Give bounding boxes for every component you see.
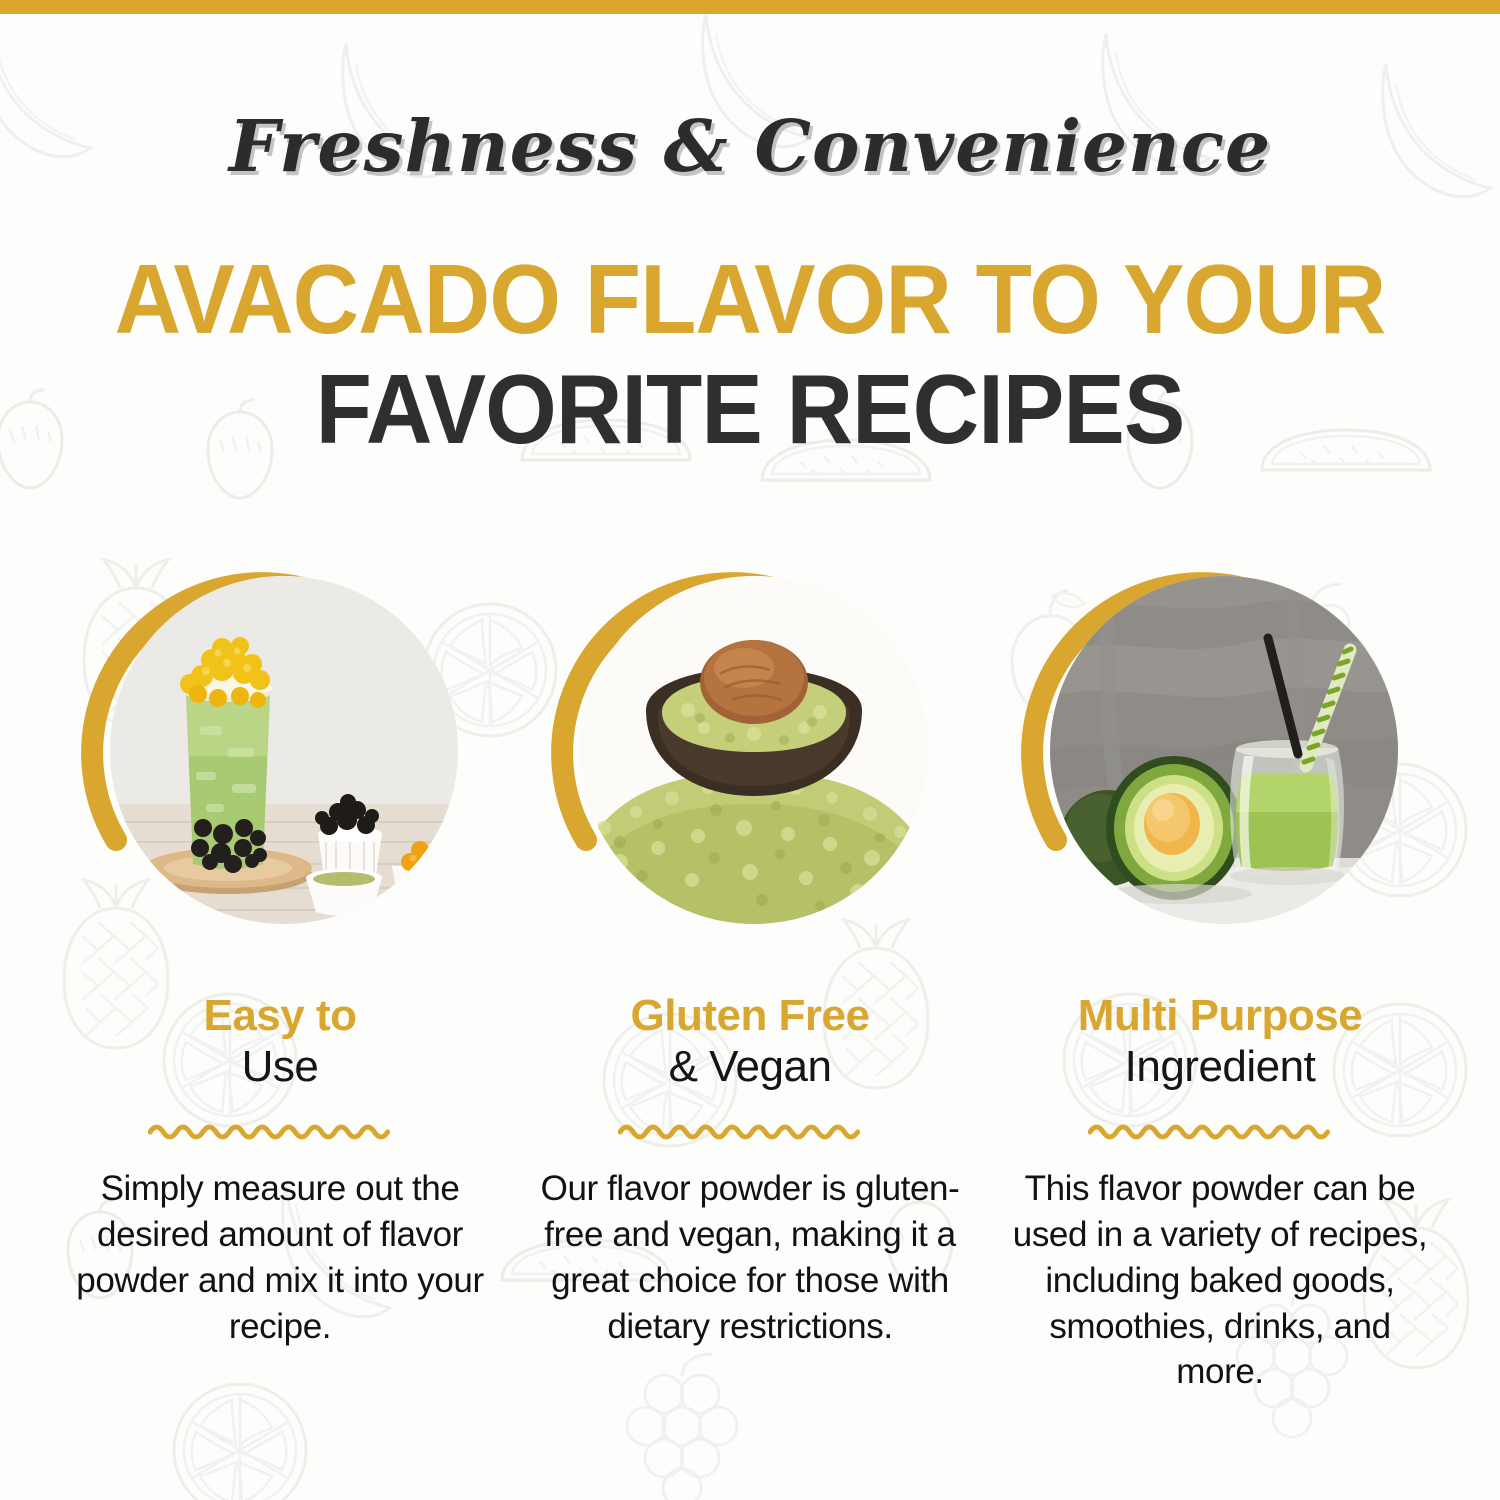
avocado-powder-pile-photo — [580, 576, 928, 924]
feature-body-1: Simply measure out the desired amount of… — [70, 1166, 490, 1349]
feature-media-1 — [80, 548, 480, 948]
avocado-smoothie-photo — [1050, 576, 1398, 924]
feature-title-3-accent: Multi Purpose — [1078, 990, 1362, 1041]
eyebrow-script-heading: Freshness & Convenience — [0, 104, 1500, 188]
top-accent-bar — [0, 0, 1500, 14]
page-title-line-1: AVACADO FLAVOR TO YOUR — [45, 250, 1455, 348]
feature-card-gluten-free-vegan: Gluten Free & Vegan Our flavor powder is… — [515, 548, 985, 1384]
feature-card-multi-purpose: Multi Purpose Ingredient This flavor pow… — [985, 548, 1455, 1430]
feature-media-2 — [550, 548, 950, 948]
feature-title-2-plain: & Vegan — [631, 1041, 870, 1092]
page-title-line-2: FAVORITE RECIPES — [45, 360, 1455, 458]
feature-columns: Easy to Use Simply measure out the desir… — [0, 548, 1500, 1430]
feature-title-1: Easy to Use — [203, 990, 356, 1092]
feature-card-easy-to-use: Easy to Use Simply measure out the desir… — [45, 548, 515, 1384]
wavy-divider-1 — [148, 1118, 412, 1140]
infographic-content: Freshness & Convenience AVACADO FLAVOR T… — [0, 0, 1500, 1500]
wavy-divider-2 — [618, 1118, 882, 1140]
feature-title-2: Gluten Free & Vegan — [631, 990, 870, 1092]
feature-body-2: Our flavor powder is gluten-free and veg… — [540, 1166, 960, 1349]
feature-title-1-plain: Use — [203, 1041, 356, 1092]
wavy-divider-3 — [1088, 1118, 1352, 1140]
feature-title-2-accent: Gluten Free — [631, 990, 870, 1041]
bubble-tea-with-avocado-powder-photo — [110, 576, 458, 924]
feature-title-3: Multi Purpose Ingredient — [1078, 990, 1362, 1092]
feature-body-3: This flavor powder can be used in a vari… — [1010, 1166, 1430, 1395]
feature-title-1-accent: Easy to — [203, 990, 356, 1041]
feature-media-3 — [1020, 548, 1420, 948]
feature-title-3-plain: Ingredient — [1078, 1041, 1362, 1092]
